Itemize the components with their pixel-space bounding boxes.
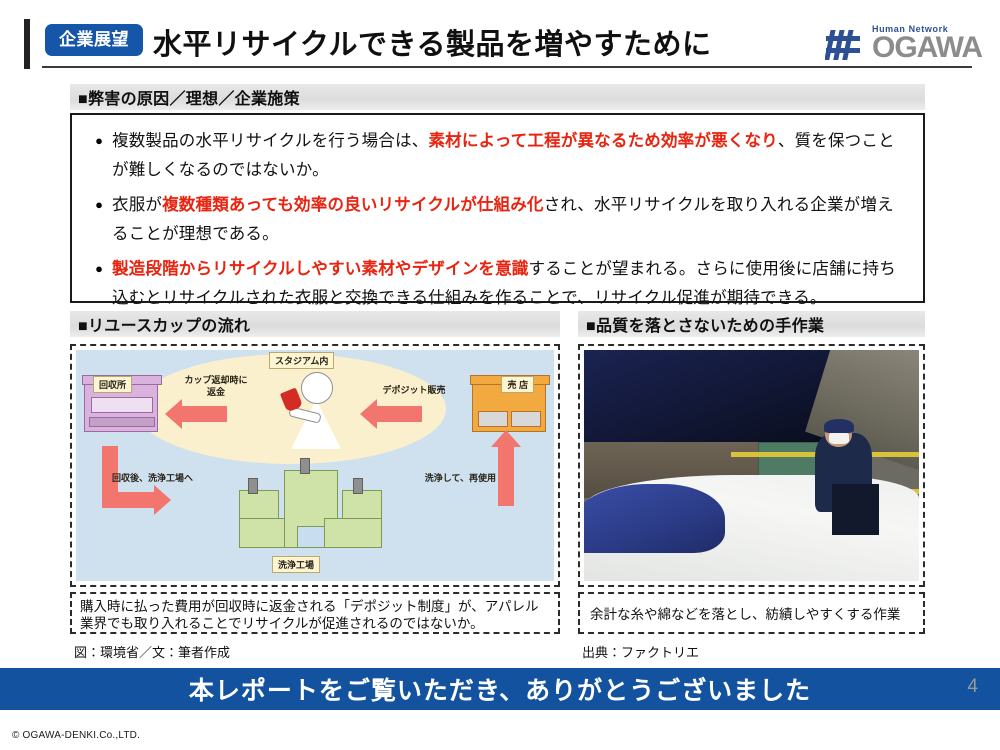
ogawa-hash-mark-icon	[825, 28, 865, 62]
photo-worker-cap	[824, 419, 854, 433]
photo-worker-mask	[829, 432, 849, 444]
bullet-marker: ●	[86, 127, 112, 155]
factory-chimney-center	[300, 458, 310, 474]
reuse-cup-diagram-frame: スタジアム内 回収所 売 店 カップ返却時に返金 デポジット販売	[70, 344, 560, 587]
collection-slot	[91, 397, 153, 413]
photo-worker-apron	[832, 484, 879, 535]
reuse-arrow-icon	[498, 446, 514, 506]
bullet-text: 衣服が複数種類あっても効率の良いリサイクルが仕組み化され、水平リサイクルを取り入…	[112, 191, 909, 249]
deposit-arrow-icon	[376, 406, 422, 422]
header-divider	[42, 66, 972, 68]
collection-station-label: 回収所	[93, 376, 132, 393]
bullet-item: ● 衣服が複数種類あっても効率の良いリサイクルが仕組み化され、水平リサイクルを取…	[86, 191, 909, 249]
bullet-text: 複数製品の水平リサイクルを行う場合は、素材によって工程が異なるため効率が悪くなり…	[112, 127, 909, 185]
to-factory-arrow-bend	[102, 492, 156, 508]
factory-chimney-right	[353, 478, 363, 494]
collection-base	[89, 417, 155, 427]
stadium-label: スタジアム内	[269, 352, 334, 369]
reuse-cup-diagram: スタジアム内 回収所 売 店 カップ返却時に返金 デポジット販売	[76, 350, 554, 581]
left-source-credit: 図：環境省／文：筆者作成	[74, 642, 230, 661]
right-source-credit: 出典：ファクトリエ	[582, 642, 699, 661]
person-head	[301, 372, 333, 404]
shop-window	[478, 411, 508, 427]
header-category-badge: 企業展望	[45, 24, 143, 56]
bullet-marker: ●	[86, 191, 112, 219]
bullet-text-highlight: 複数種類あっても効率の良いリサイクルが仕組み化	[162, 196, 544, 214]
bullet-text-highlight: 素材によって工程が異なるため効率が悪くなり	[428, 132, 777, 150]
copyright-notice: © OGAWA-DENKI.Co.,LTD.	[12, 730, 140, 741]
bullet-text-plain: 複数製品の水平リサイクルを行う場合は、	[112, 132, 428, 150]
header-accent-bar	[24, 19, 30, 69]
bullet-item: ● 複数製品の水平リサイクルを行う場合は、素材によって工程が異なるため効率が悪く…	[86, 127, 909, 185]
left-section-heading: ■リユースカップの流れ	[70, 311, 560, 337]
factory-chimney-left	[248, 478, 258, 494]
refund-label: カップ返却時に返金	[171, 374, 261, 398]
bullet-marker: ●	[86, 255, 112, 283]
person-with-cup-icon	[283, 372, 353, 450]
issues-section-heading: ■弊害の原因／理想／企業施策	[70, 84, 925, 110]
slide-header: 企業展望 水平リサイクルできる製品を増やすために Human Network O…	[0, 0, 1000, 78]
factory-building-right-annex	[324, 518, 382, 548]
footer-banner: 本レポートをご覧いただき、ありがとうございました	[0, 668, 1000, 710]
factory-photo	[584, 350, 919, 581]
factory-photo-frame	[578, 344, 925, 587]
to-factory-label: 回収後、洗浄工場へ	[112, 472, 193, 484]
logo-wordmark: OGAWA	[872, 34, 982, 63]
ogawa-logo: Human Network OGAWA	[825, 24, 982, 62]
bullet-text: 製造段階からリサイクルしやすい素材やデザインを意識することが望まれる。さらに使用…	[112, 255, 909, 313]
bullet-text-plain: 衣服が	[112, 196, 162, 214]
photo-blue-fiber-pile	[584, 484, 725, 553]
shop-window	[511, 411, 541, 427]
issues-bullet-box: ● 複数製品の水平リサイクルを行う場合は、素材によって工程が異なるため効率が悪く…	[70, 113, 925, 303]
bullet-item: ● 製造段階からリサイクルしやすい素材やデザインを意識することが望まれる。さらに…	[86, 255, 909, 313]
refund-arrow-icon	[181, 406, 227, 422]
left-caption-box: 購入時に払った費用が回収時に返金される「デポジット制度」が、アパレル業界でも取り…	[70, 592, 560, 634]
to-factory-arrow-head	[154, 485, 171, 515]
page-number: 4	[967, 676, 978, 698]
page-title: 水平リサイクルできる製品を増やすために	[153, 21, 711, 63]
shop-label: 売 店	[501, 376, 534, 393]
bullet-text-highlight: 製造段階からリサイクルしやすい素材やデザインを意識	[112, 260, 529, 278]
right-section-heading: ■品質を落とさないための手作業	[578, 311, 925, 337]
right-caption-box: 余計な糸や綿などを落とし、紡績しやすくする作業	[578, 592, 925, 634]
reuse-label: 洗浄して、再使用	[425, 472, 496, 484]
footer-message: 本レポートをご覧いただき、ありがとうございました	[189, 671, 811, 707]
deposit-label: デポジット販売	[364, 384, 464, 396]
factory-label: 洗浄工場	[272, 556, 320, 573]
factory-door	[297, 526, 325, 548]
